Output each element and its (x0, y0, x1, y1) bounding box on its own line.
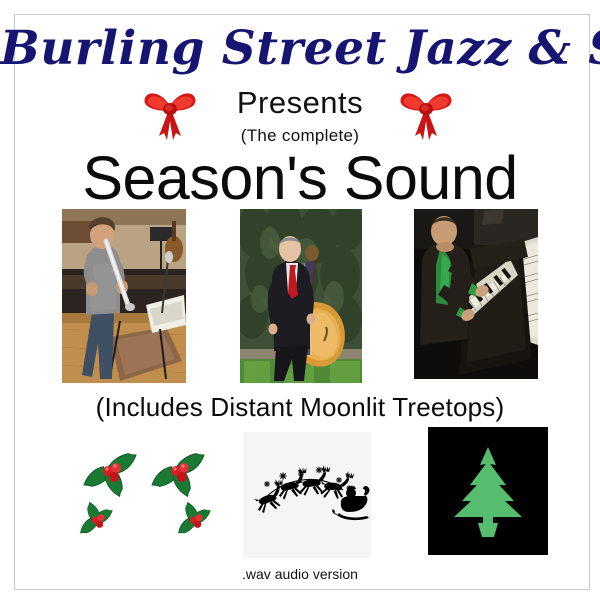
presents-label: Presents (0, 85, 600, 121)
band-name: Burling Street Jazz & Swing (0, 24, 600, 73)
double-bass-player-photo (240, 209, 362, 383)
the-complete-label: (The complete) (0, 126, 600, 146)
album-cover: Burling Street Jazz & Swing (0, 0, 600, 600)
includes-label: (Includes Distant Moonlit Treetops) (0, 392, 600, 423)
album-title: Season's Sound (0, 146, 600, 210)
audio-format-note: .wav audio version (0, 566, 600, 582)
piano-player-photo (414, 209, 538, 379)
santa-sleigh-panel (243, 432, 371, 558)
holly-sprigs-panel (66, 436, 228, 552)
clarinet-player-photo (62, 209, 186, 383)
christmas-tree-panel (428, 427, 548, 555)
